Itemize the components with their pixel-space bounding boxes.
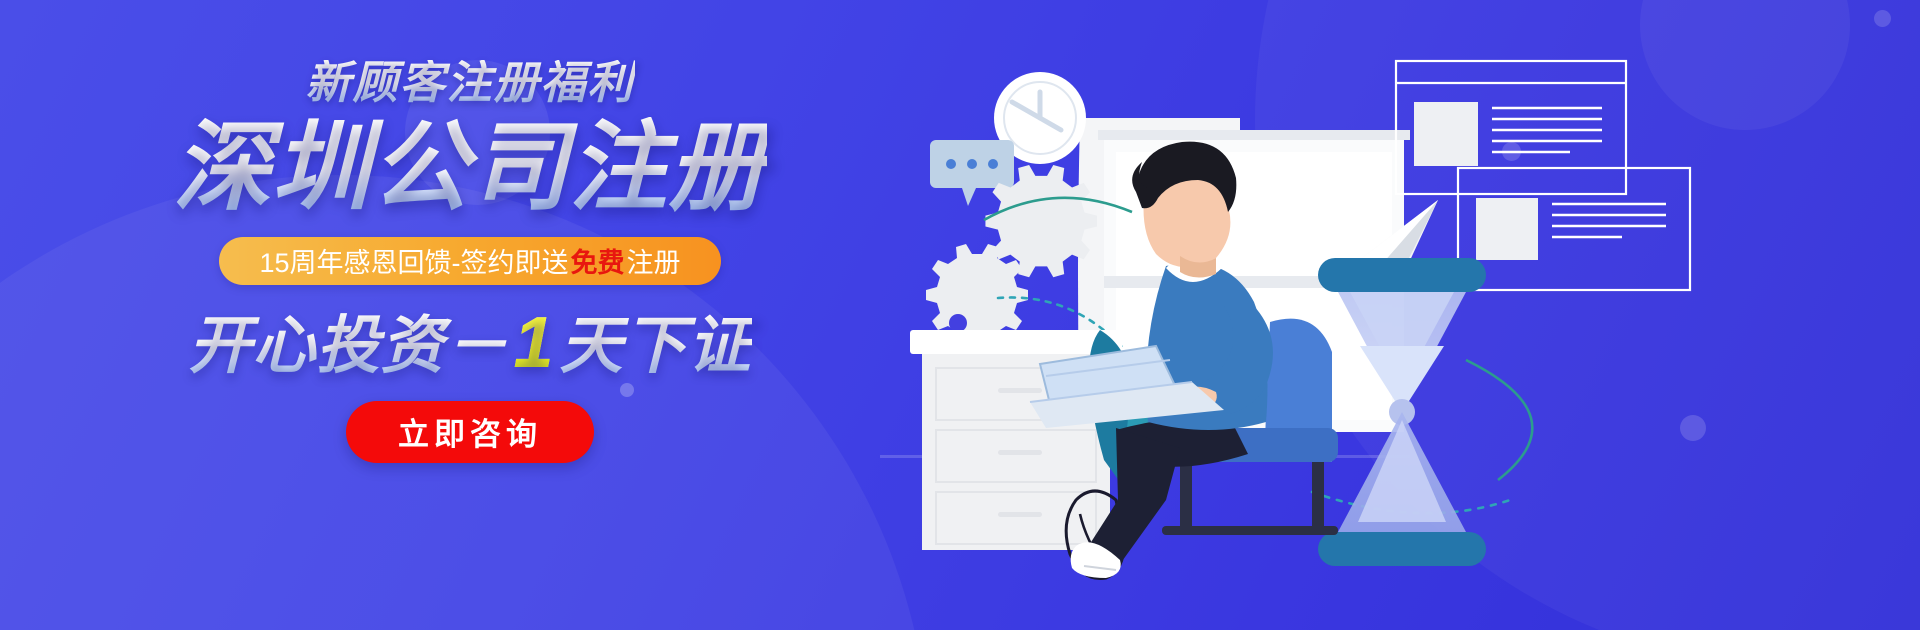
banner-kicker: 新顾客注册福利	[305, 60, 634, 105]
decorative-dot	[1874, 10, 1891, 27]
promo-badge-prefix: 15周年感恩回馈-签约即送	[259, 241, 568, 280]
document-card-bottom	[1458, 168, 1690, 290]
promo-banner: 新顾客注册福利 深圳公司注册 15周年感恩回馈-签约即送免费注册 开心投资－1天…	[0, 0, 1920, 630]
document-card-top	[1396, 61, 1626, 194]
promo-badge: 15周年感恩回馈-签约即送免费注册	[219, 237, 720, 285]
promo-badge-suffix: 注册	[627, 241, 681, 280]
promo-badge-highlight: 免费	[569, 241, 627, 280]
banner-title: 深圳公司注册	[173, 117, 767, 219]
subtitle-prefix: 开心投资－	[188, 311, 508, 381]
banner-copy: 新顾客注册福利 深圳公司注册 15周年感恩回馈-签约即送免费注册 开心投资－1天…	[0, 0, 940, 630]
banner-subtitle: 开心投资－1天下证	[188, 307, 751, 379]
subtitle-number: 1	[508, 303, 559, 383]
gears-icon	[926, 165, 1097, 346]
consult-now-button[interactable]: 立即咨询	[346, 401, 594, 463]
subtitle-suffix: 天下证	[560, 311, 752, 381]
hero-illustration	[880, 30, 1890, 610]
